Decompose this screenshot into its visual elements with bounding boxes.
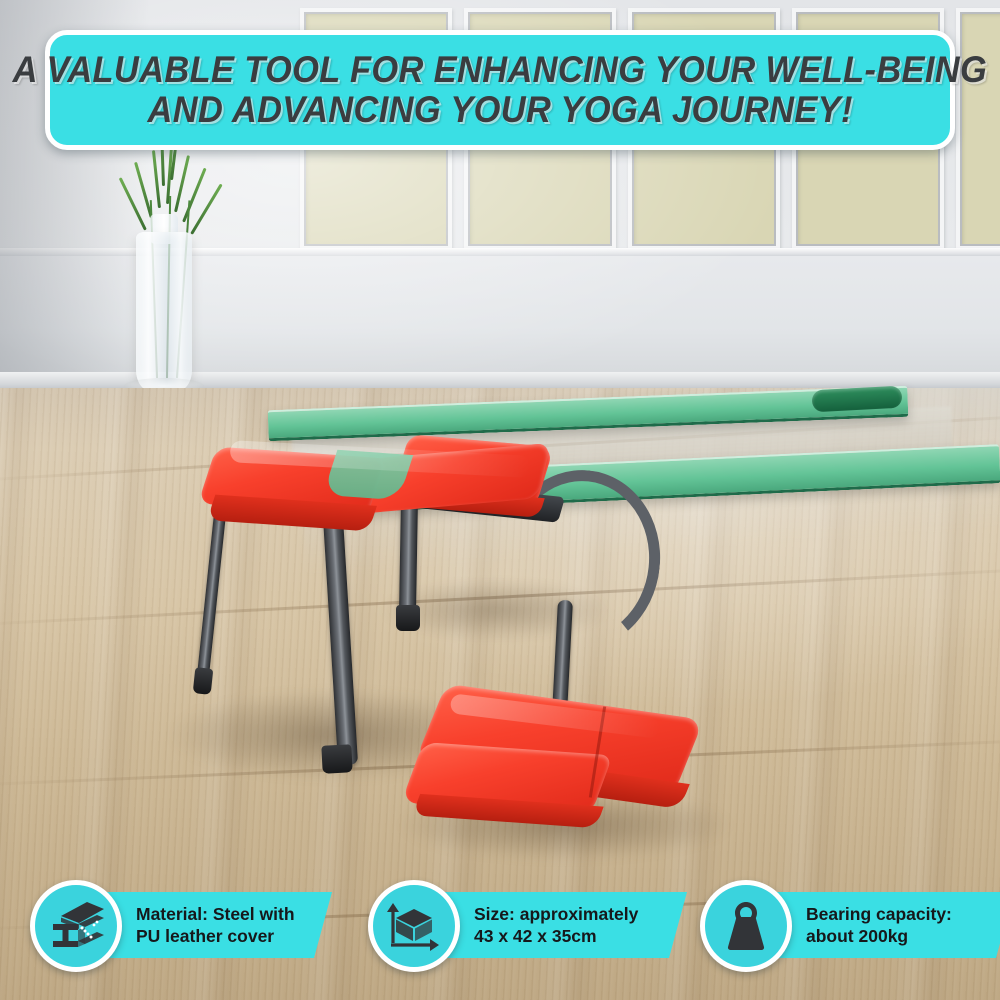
bench-leg-far-left: [196, 512, 226, 687]
feature-text-material: Material: Steel with PU leather cover: [136, 903, 295, 948]
feature-pill-material: Material: Steel with PU leather cover: [104, 892, 332, 958]
feature-badge-material: Material: Steel with PU leather cover: [30, 878, 330, 990]
headline-banner: A VALUABLE TOOL FOR ENHANCING YOUR WELL-…: [45, 30, 955, 150]
product-headstand-bench: [0, 0, 1000, 1000]
dimensions-box-icon: [385, 899, 443, 953]
headline-line-2: AND ADVANCING YOUR YOGA JOURNEY!: [147, 90, 852, 130]
weight-kettlebell-icon: [719, 900, 773, 952]
feature-text-capacity: Bearing capacity: about 200kg: [806, 903, 952, 948]
steel-beam-icon: [47, 900, 105, 952]
bench-foot-far-left: [193, 667, 214, 695]
feature-text-size: Size: approximately 43 x 42 x 35cm: [474, 903, 638, 948]
feature-icon-circle-capacity: [700, 880, 792, 972]
feature-icon-circle-size: [368, 880, 460, 972]
feature-pill-size: Size: approximately 43 x 42 x 35cm: [442, 892, 687, 958]
feature-icon-circle-material: [30, 880, 122, 972]
product-image-canvas: A VALUABLE TOOL FOR ENHANCING YOUR WELL-…: [0, 0, 1000, 1000]
bench-foot-front-left: [321, 744, 352, 774]
feature-pill-capacity: Bearing capacity: about 200kg: [774, 892, 1000, 958]
headline-line-1: A VALUABLE TOOL FOR ENHANCING YOUR WELL-…: [13, 50, 987, 90]
bench-foot-middle: [396, 605, 420, 631]
feature-badge-row: Material: Steel with PU leather cover: [0, 878, 1000, 1000]
feature-badge-capacity: Bearing capacity: about 200kg: [700, 878, 1000, 990]
feature-badge-size: Size: approximately 43 x 42 x 35cm: [368, 878, 678, 990]
